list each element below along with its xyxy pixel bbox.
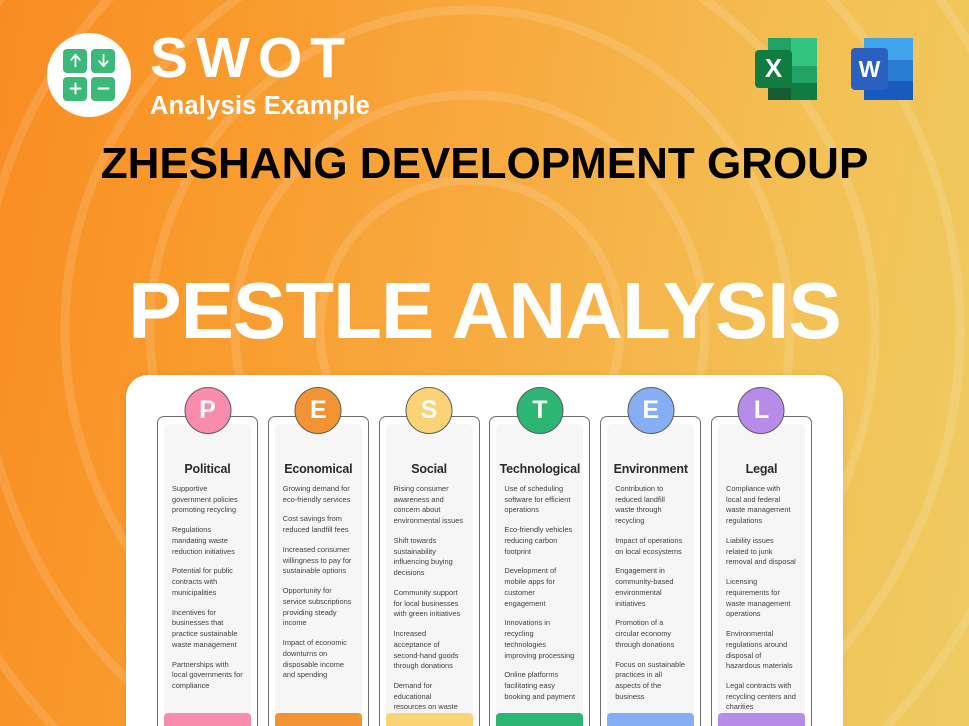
pestle-column-environment[interactable]: E Environment Contribution to reduced la… [600,416,701,726]
brand-subtitle: Analysis Example [150,94,370,120]
list-item: Opportunity for service subscriptions pr… [283,586,354,629]
list-item: Licensing requirements for waste managem… [726,577,797,620]
list-item: Engagement in community-based environmen… [615,566,686,609]
list-item: Incentives for businesses that practice … [172,608,243,651]
plus-icon [63,77,87,101]
list-item: Use of scheduling software for efficient… [504,484,575,516]
column-items: Compliance with local and federal waste … [718,484,805,726]
column-heading: Political [164,462,251,476]
list-item: Community support for local businesses w… [394,588,465,620]
letter-badge-e: E [295,387,342,434]
poster-canvas: SWOT Analysis Example X W [0,0,969,726]
column-heading: Legal [718,462,805,476]
letter-badge-t: T [516,387,563,434]
pestle-column-political[interactable]: P Political Supportive government polici… [157,416,258,726]
column-heading: Social [386,462,473,476]
arrow-down-icon [91,49,115,73]
list-item: Growing demand for eco-friendly services [283,484,354,505]
swot-logo-icon [47,33,131,117]
minus-icon [91,77,115,101]
list-item: Innovations in recycling technologies im… [504,618,575,661]
office-icons-group: X W [747,30,921,108]
letter-badge-l: L [738,387,785,434]
list-item: Promotion of a circular economy through … [615,618,686,650]
brand-lockup: SWOT Analysis Example [47,30,370,120]
column-color-strip [496,713,583,726]
letter-badge-s: S [406,387,453,434]
pestle-panel: P Political Supportive government polici… [126,375,843,726]
brand-title: SWOT [150,30,370,87]
svg-text:W: W [859,56,881,82]
column-items: Rising consumer awareness and concern ab… [386,484,473,726]
column-color-strip [386,713,473,726]
list-item: Eco-friendly vehicles reducing carbon fo… [504,525,575,557]
column-items: Growing demand for eco-friendly services… [275,484,362,726]
svg-text:X: X [765,53,783,83]
letter-badge-p: P [184,387,231,434]
column-items: Supportive government policies promoting… [164,484,251,726]
main-title: PESTLE ANALYSIS [0,271,969,351]
column-items: Contribution to reduced landfill waste t… [607,484,694,726]
list-item: Rising consumer awareness and concern ab… [394,484,465,527]
pestle-columns: P Political Supportive government polici… [157,416,812,726]
letter-badge-e2: E [627,387,674,434]
column-items: Use of scheduling software for efficient… [496,484,583,726]
word-icon: W [843,30,921,108]
pestle-column-technological[interactable]: T Technological Use of scheduling softwa… [489,416,590,726]
list-item: Online platforms facilitating easy booki… [504,670,575,702]
list-item: Partnerships with local governments for … [172,660,243,692]
list-item: Environmental regulations around disposa… [726,629,797,672]
list-item: Increased consumer willingness to pay fo… [283,545,354,577]
column-color-strip [275,713,362,726]
list-item: Supportive government policies promoting… [172,484,243,516]
list-item: Increased acceptance of second-hand good… [394,629,465,672]
column-color-strip [164,713,251,726]
excel-icon: X [747,30,825,108]
pestle-column-social[interactable]: S Social Rising consumer awareness and c… [379,416,480,726]
list-item: Impact of operations on local ecosystems [615,536,686,557]
pestle-column-economical[interactable]: E Economical Growing demand for eco-frie… [268,416,369,726]
column-heading: Environment [607,462,694,476]
column-color-strip [718,713,805,726]
pestle-column-legal[interactable]: L Legal Compliance with local and federa… [711,416,812,726]
company-title: ZHESHANG DEVELOPMENT GROUP [0,136,969,192]
column-heading: Economical [275,462,362,476]
list-item: Development of mobile apps for customer … [504,566,575,609]
list-item: Focus on sustainable practices in all as… [615,660,686,703]
list-item: Compliance with local and federal waste … [726,484,797,527]
arrow-up-icon [63,49,87,73]
column-heading: Technological [496,462,583,476]
list-item: Shift towards sustainability influencing… [394,536,465,579]
list-item: Regulations mandating waste reduction in… [172,525,243,557]
list-item: Cost savings from reduced landfill fees [283,514,354,535]
list-item: Liability issues related to junk removal… [726,536,797,568]
column-color-strip [607,713,694,726]
list-item: Impact of economic downturns on disposab… [283,638,354,681]
list-item: Legal contracts with recycling centers a… [726,681,797,713]
list-item: Potential for public contracts with muni… [172,566,243,598]
list-item: Contribution to reduced landfill waste t… [615,484,686,527]
